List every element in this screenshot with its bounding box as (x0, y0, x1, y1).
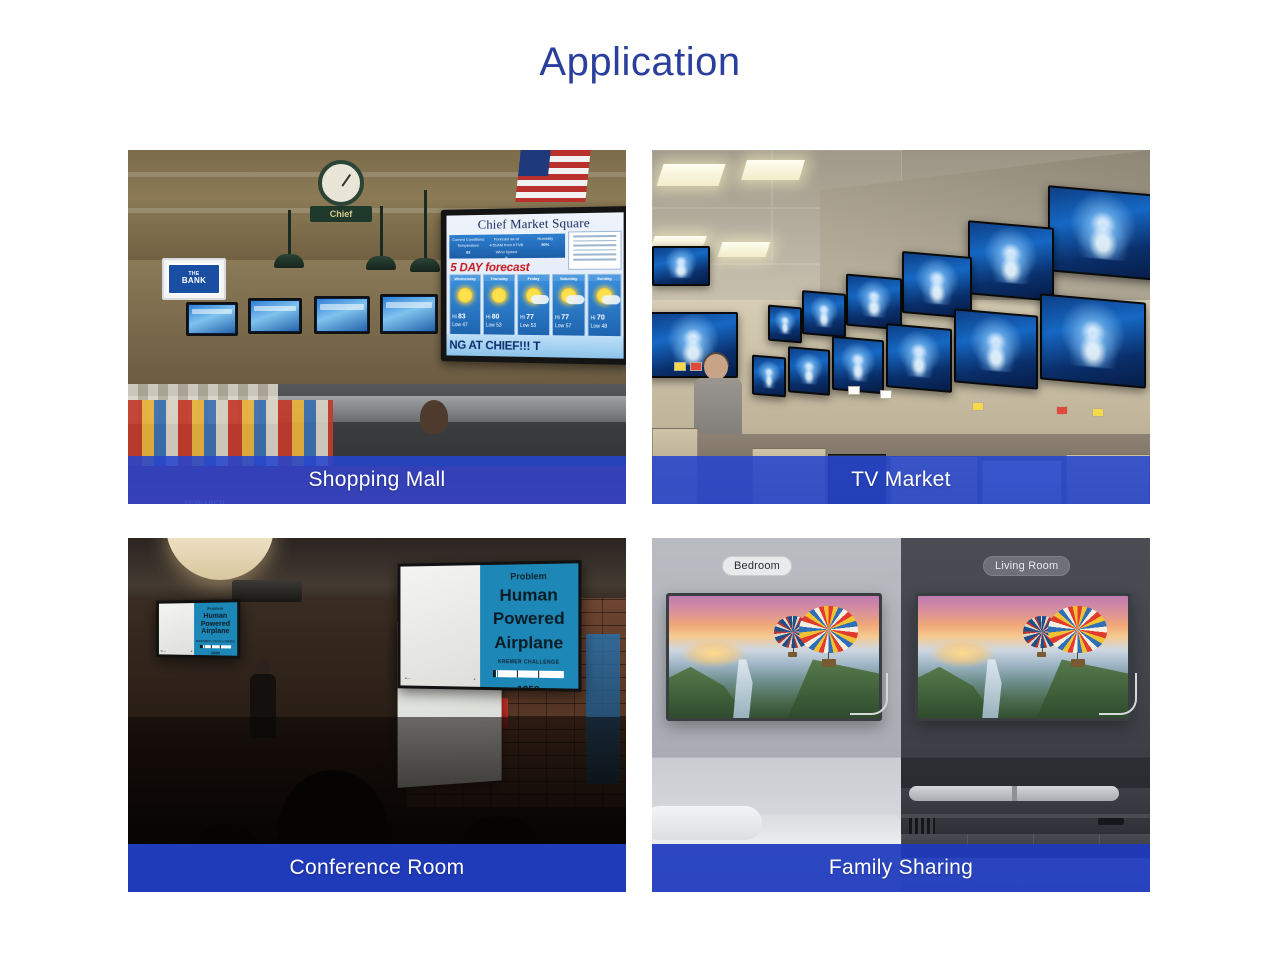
forecast-low: 47 (462, 322, 467, 328)
tv-display (768, 305, 802, 344)
application-card-family-sharing[interactable]: Bedroom (652, 538, 1150, 892)
slide-timeline (200, 645, 231, 648)
room-label-bedroom: Bedroom (722, 556, 792, 576)
hdmi-cable (850, 673, 888, 715)
shopper-silhouette (420, 400, 448, 434)
hot-air-balloon (799, 606, 858, 667)
card-caption: Shopping Mall (128, 456, 626, 504)
forecast-day: Friday Hi 77 Low 53 (517, 274, 550, 338)
slide-text: Problem Human Powered Airplane KREMER CH… (194, 602, 237, 655)
condition-label: Forecast as of 4:51AM from KTVB Wind Spe… (489, 236, 523, 254)
tv-display (1040, 293, 1146, 388)
forecast-high: 80 (492, 314, 500, 321)
forecast-day: Wednesday Hi 83 Low 47 (449, 274, 481, 337)
slide-eyebrow: Problem (480, 570, 578, 582)
card-caption: Conference Room (128, 844, 626, 892)
repeater-screen: Problem Human Powered Airplane KREMER CH… (156, 599, 240, 659)
slide-diagram (400, 565, 479, 687)
forecast-temps: Hi 80 Low 53 (486, 313, 512, 330)
forecast-high: 77 (561, 314, 569, 321)
remote-control[interactable] (1098, 818, 1124, 825)
page-title: Application (0, 40, 1280, 85)
forecast-temps: Hi 70 Low 48 (591, 314, 619, 331)
pendant-rod (424, 190, 427, 260)
slide-eyebrow: Problem (194, 605, 237, 611)
weather-screen: Chief Market Square Current Conditions T… (446, 212, 623, 358)
forecast-temps: Hi 83 Low 47 (452, 313, 478, 330)
books (909, 818, 935, 834)
sun-icon (458, 288, 472, 303)
mini-display (380, 294, 438, 334)
forecast-day-name: Thursday (484, 275, 514, 281)
slide-title-line2: Powered (194, 620, 237, 628)
mini-display (314, 296, 370, 334)
pillow (652, 806, 762, 840)
card-caption: Family Sharing (652, 844, 1150, 892)
tv-market-photo (652, 150, 1150, 504)
high-prefix: Hi (555, 315, 560, 321)
tv-display (788, 346, 830, 396)
bank-sign-line2: BANK (182, 277, 206, 285)
forecast-temps: Hi 77 Low 53 (520, 313, 547, 330)
forecast-high: 83 (458, 314, 465, 321)
bedroom-tv (666, 593, 882, 721)
cloud-icon (566, 295, 584, 304)
slide-timeline (493, 670, 564, 678)
tv-display (886, 323, 952, 393)
tv-display (954, 308, 1038, 389)
wall-clock (318, 160, 364, 206)
hdmi-cable (1099, 673, 1137, 715)
mini-display (186, 302, 238, 336)
condition-label: Humidity (538, 236, 554, 241)
forecast-day-name: Wednesday (450, 275, 480, 281)
fluorescent-light (656, 164, 725, 186)
slide-title-line1: Human (480, 586, 578, 605)
tv-display (1048, 185, 1150, 281)
mini-display (248, 298, 302, 334)
mall-scene: Chief THE BANK (128, 150, 626, 504)
tv-display (752, 355, 786, 398)
slide-year: 1959 (194, 650, 237, 656)
bedroom-panel: Bedroom (652, 538, 901, 892)
price-tag (848, 386, 860, 395)
family-sharing-scene: Bedroom (652, 538, 1150, 892)
application-card-conference-room[interactable]: Problem Human Powered Airplane KREMER CH… (128, 538, 626, 892)
low-prefix: Low (520, 323, 529, 329)
slide-subtitle: KREMER CHALLENGE (194, 639, 237, 643)
forecast-low: 53 (496, 323, 501, 329)
low-prefix: Low (486, 323, 495, 329)
price-tag (690, 362, 702, 371)
slide-text: Problem Human Powered Airplane KREMER CH… (480, 563, 578, 688)
weather-display: Chief Market Square Current Conditions T… (441, 206, 626, 365)
fluorescent-light (741, 160, 805, 180)
condition-value: 90% (541, 242, 549, 247)
pendant-lamp (410, 258, 440, 272)
forecast-low: 48 (601, 324, 607, 330)
presentation-screen: Problem Human Powered Airplane KREMER CH… (398, 560, 582, 692)
pendant-lamp (274, 254, 304, 268)
projector (232, 580, 302, 602)
forecast-label: 5 DAY forecast (450, 260, 529, 274)
cloud-icon (602, 295, 621, 304)
sunset-glow (931, 640, 994, 667)
forecast-day: Sunday Hi 70 Low 48 (587, 274, 621, 339)
forecast-day-name: Sunday (588, 275, 620, 281)
cloud-icon (531, 295, 549, 304)
price-tag (674, 362, 686, 371)
price-tag (880, 390, 892, 399)
american-flag (515, 150, 590, 202)
tv-store-scene (652, 150, 1150, 504)
living-room-tv (915, 593, 1131, 721)
price-tag (972, 402, 984, 411)
sun-icon (492, 288, 507, 303)
forecast-low: 57 (566, 323, 572, 329)
low-prefix: Low (591, 324, 600, 330)
conference-scene: Problem Human Powered Airplane KREMER CH… (128, 538, 626, 892)
application-card-tv-market[interactable]: TV Market (652, 150, 1150, 504)
pendant-rod (288, 210, 291, 256)
family-sharing-photo: Bedroom (652, 538, 1150, 892)
living-room-tv-screen (918, 596, 1128, 718)
forecast-day-name: Friday (518, 275, 549, 281)
bedroom-tv-screen (669, 596, 879, 718)
slide-subtitle: KREMER CHALLENGE (480, 659, 578, 666)
tv-display (802, 290, 846, 338)
slide-title-line3: Airplane (194, 628, 237, 636)
weather-ticker: NG AT CHIEF!!! T (446, 334, 623, 359)
bank-sign: THE BANK (162, 258, 226, 300)
fluorescent-light (718, 242, 771, 257)
condition-label: Current Conditions Temperature (452, 237, 484, 249)
price-tag (1056, 406, 1068, 415)
forecast-low: 53 (531, 323, 537, 329)
pendant-rod (380, 206, 383, 258)
condition-value: 63 (466, 249, 470, 254)
advertisement-panel (568, 231, 621, 270)
application-slide: Application Chief THE BANK (0, 0, 1280, 957)
low-prefix: Low (555, 323, 564, 329)
high-prefix: Hi (486, 315, 491, 321)
forecast-high: 77 (526, 314, 534, 321)
forecast-high: 70 (597, 315, 605, 322)
forecast-day-name: Saturday (553, 275, 584, 281)
tv-display (846, 274, 902, 331)
hot-air-balloon (1048, 606, 1107, 667)
shopping-mall-photo: Chief THE BANK (128, 150, 626, 504)
high-prefix: Hi (591, 316, 596, 322)
price-tag (1092, 408, 1104, 417)
conference-room-photo: Problem Human Powered Airplane KREMER CH… (128, 538, 626, 892)
forecast-day: Thursday Hi 80 Low 53 (483, 274, 515, 338)
forecast-day: Saturday Hi 77 Low 57 (552, 274, 585, 339)
chief-sign: Chief (310, 206, 372, 222)
slide-title-line3: Airplane (480, 634, 578, 653)
soundbar (909, 786, 1119, 801)
high-prefix: Hi (520, 315, 525, 321)
tv-display (652, 246, 710, 286)
high-prefix: Hi (452, 315, 457, 321)
customer-head (704, 354, 728, 380)
forecast-days: Wednesday Hi 83 Low 47 Thursday (449, 274, 621, 339)
application-card-shopping-mall[interactable]: Chief THE BANK (128, 150, 626, 504)
weather-current-conditions: Current Conditions Temperature63 Forecas… (449, 234, 565, 259)
pendant-lamp (366, 256, 396, 270)
weather-header: Chief Market Square (446, 212, 623, 233)
card-caption: TV Market (652, 456, 1150, 504)
sunset-glow (682, 640, 745, 667)
room-label-living-room: Living Room (983, 556, 1070, 576)
low-prefix: Low (452, 322, 461, 328)
tv-display (968, 220, 1054, 302)
application-card-grid: Chief THE BANK (128, 150, 1150, 892)
slide-title-line2: Powered (480, 610, 578, 629)
living-room-panel: Living Room (901, 538, 1150, 892)
forecast-temps: Hi 77 Low 57 (555, 313, 582, 330)
slide-diagram (159, 603, 194, 655)
